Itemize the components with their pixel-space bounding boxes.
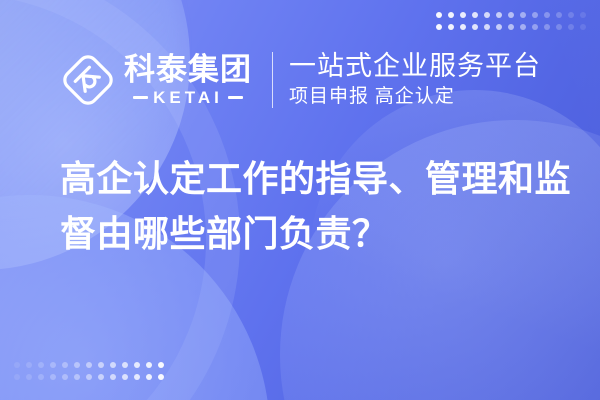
dot [38, 374, 44, 380]
dot [26, 362, 32, 368]
ketai-kp-monogram-icon [60, 52, 116, 108]
dot [472, 24, 478, 30]
dot [436, 12, 442, 18]
tagline-block: 一站式企业服务平台 项目申报 高企认定 [289, 51, 541, 110]
dot [508, 12, 514, 18]
dot [98, 374, 104, 380]
dot [568, 12, 574, 18]
dot [448, 12, 454, 18]
dot [568, 24, 574, 30]
dot [448, 24, 454, 30]
dot [556, 24, 562, 30]
dot [74, 362, 80, 368]
dot [484, 12, 490, 18]
dot [74, 374, 80, 380]
dot [544, 24, 550, 30]
dot-row [14, 374, 164, 380]
dot [472, 12, 478, 18]
dot [532, 24, 538, 30]
brand-name-en: KETAI [153, 89, 223, 106]
dot [26, 374, 32, 380]
dot [158, 362, 164, 368]
brand-header: 科泰集团 KETAI 一站式企业服务平台 项目申报 高企认定 [60, 44, 541, 116]
dot [62, 362, 68, 368]
dot [496, 24, 502, 30]
brand-name-en-row: KETAI [124, 89, 252, 106]
dash-left-icon [133, 96, 148, 99]
dot [146, 374, 152, 380]
dot [62, 374, 68, 380]
dot [50, 374, 56, 380]
dot [532, 12, 538, 18]
dot [122, 374, 128, 380]
tagline-secondary: 项目申报 高企认定 [289, 85, 541, 110]
dot [496, 12, 502, 18]
dot [436, 24, 442, 30]
brand-wordmark: 科泰集团 KETAI [124, 54, 252, 107]
dot [484, 24, 490, 30]
dot [38, 362, 44, 368]
brand-name-cn: 科泰集团 [124, 54, 252, 87]
dot [134, 362, 140, 368]
dot [508, 24, 514, 30]
dot [122, 362, 128, 368]
dot [580, 12, 586, 18]
tagline-primary: 一站式企业服务平台 [289, 51, 541, 82]
dot [110, 362, 116, 368]
dot [158, 374, 164, 380]
dot [556, 12, 562, 18]
dot-row [436, 12, 586, 18]
dot [460, 12, 466, 18]
promo-banner: 科泰集团 KETAI 一站式企业服务平台 项目申报 高企认定 高企认定工作的指导… [0, 0, 600, 400]
dash-right-icon [228, 96, 243, 99]
dot [86, 374, 92, 380]
dot [110, 374, 116, 380]
dot [520, 24, 526, 30]
dot [14, 374, 20, 380]
dot [580, 24, 586, 30]
headline-text: 高企认定工作的指导、管理和监督由哪些部门负责？ [60, 152, 572, 261]
dot [460, 24, 466, 30]
dot [50, 362, 56, 368]
dot [86, 362, 92, 368]
dot-row [436, 24, 586, 30]
dot-row [14, 362, 164, 368]
dot-grid-bottom-left [14, 362, 164, 380]
dot [520, 12, 526, 18]
dot [98, 362, 104, 368]
vertical-divider [272, 52, 273, 108]
dot [544, 12, 550, 18]
dot [14, 362, 20, 368]
dot-grid-top-right [436, 12, 586, 30]
dot [134, 374, 140, 380]
dot [146, 362, 152, 368]
